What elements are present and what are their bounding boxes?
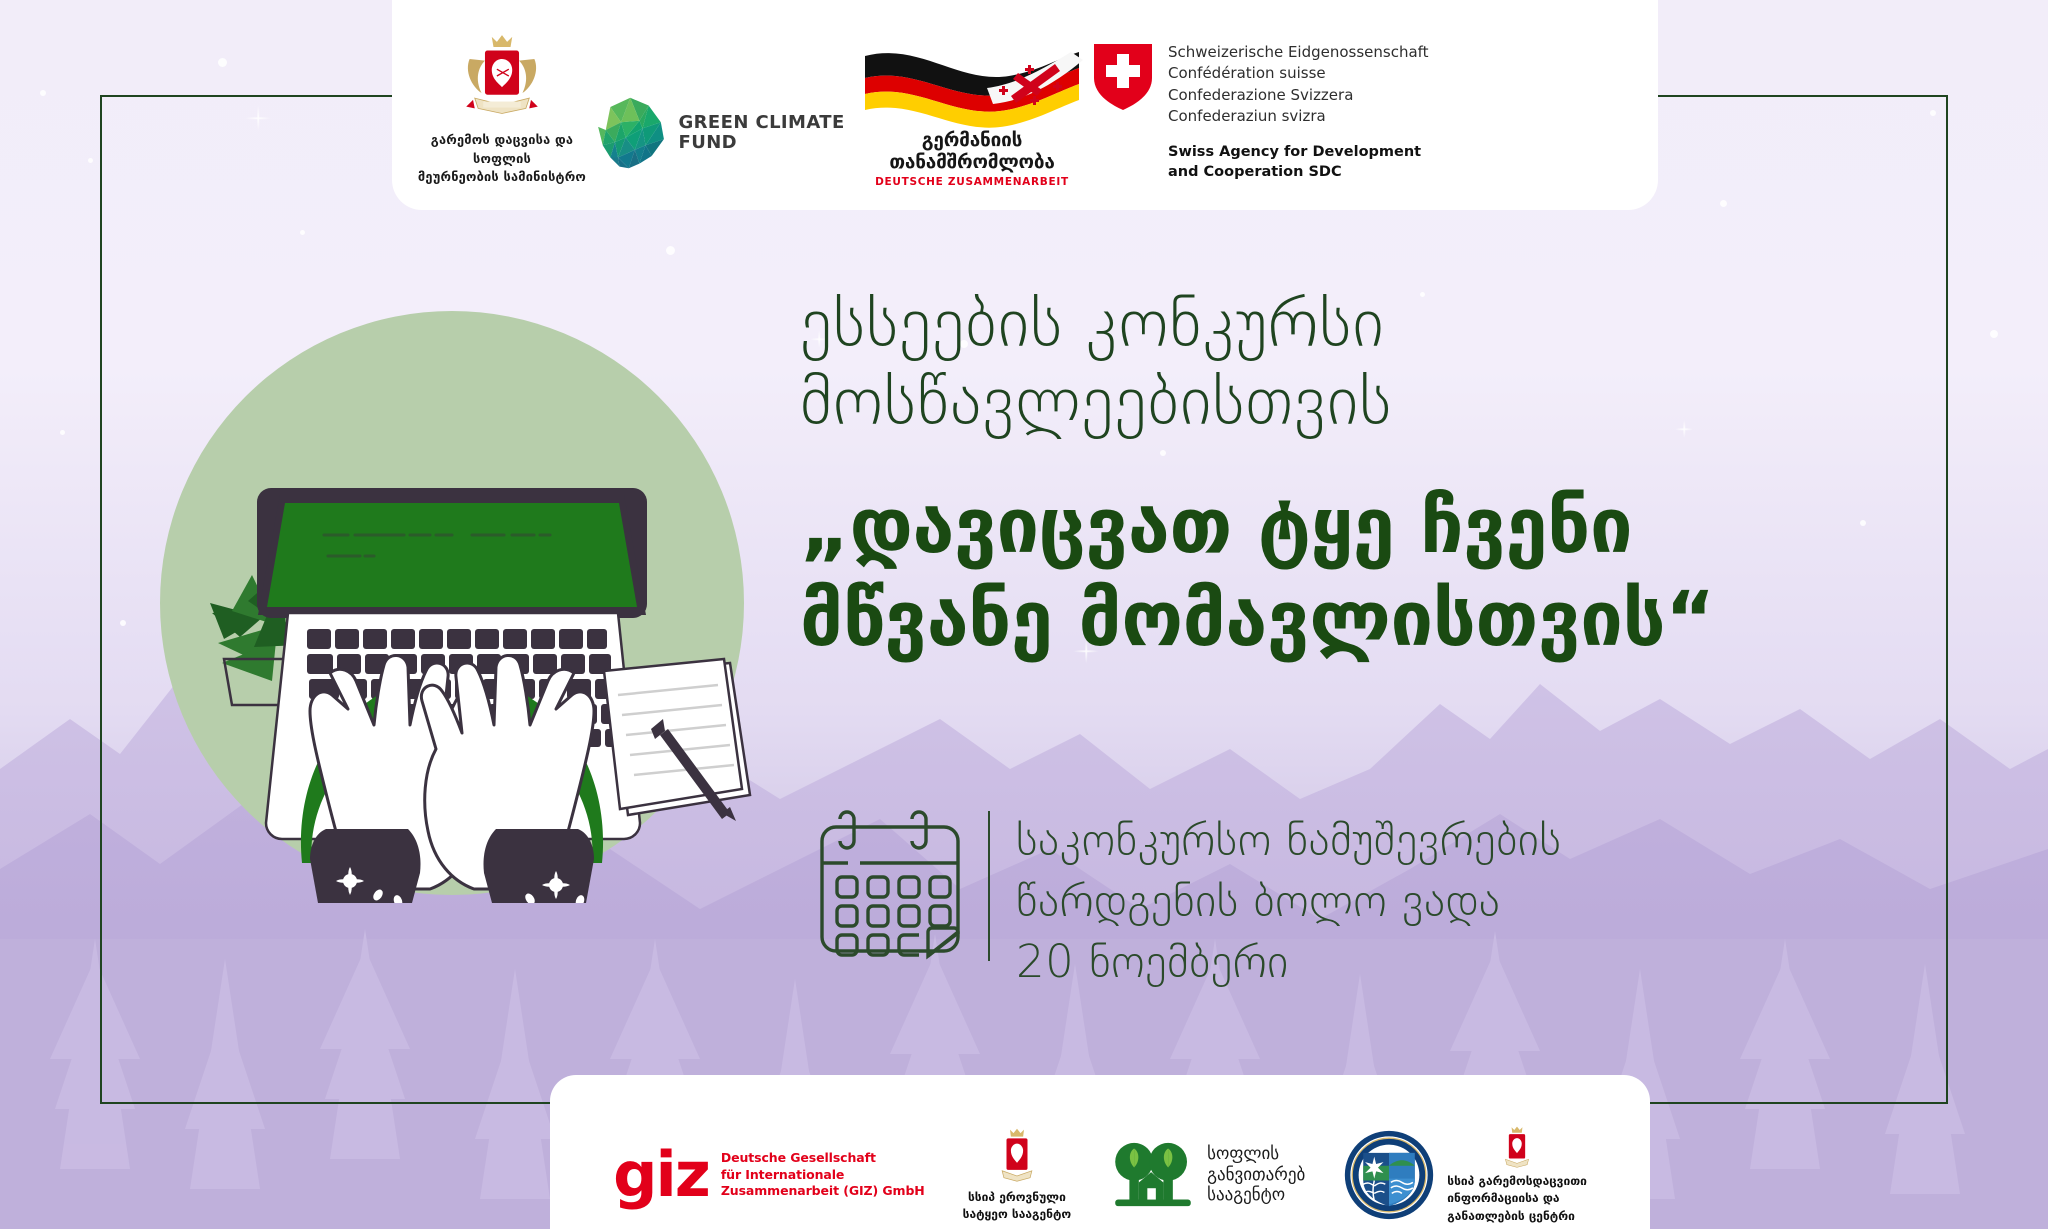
notepad-and-pencil-icon (604, 659, 750, 821)
giz-subtitle: Deutsche Gesellschaft für Internationale… (721, 1150, 925, 1200)
logo-giz: giz Deutsche Gesellschaft für Internatio… (613, 1150, 925, 1201)
green-climate-fund-globe-icon (592, 82, 669, 184)
main-content-block: ესსეების კონკურსი მოსწავლეებისთვის „დავი… (800, 285, 1980, 666)
top-partner-logos-card: გარემოს დაცვისა და სოფლის მეურნეობის სამ… (392, 0, 1658, 210)
georgia-coat-of-arms-small-icon (995, 1127, 1039, 1183)
headline-text: „დავიცვათ ტყე ჩვენი მწვანე მომავლისთვის“ (800, 480, 1980, 665)
eiec-label: სსიპ გარემოსდაცვითი ინფორმაციისა და განა… (1447, 1173, 1587, 1224)
calendar-icon (810, 805, 970, 970)
logo-rural-development-agency: სოფლის განვითარებ სააგენტო (1109, 1141, 1305, 1209)
trees-house-icon (1109, 1141, 1197, 1209)
rural-development-agency-label: სოფლის განვითარებ სააგენტო (1207, 1144, 1305, 1206)
kicker-text: ესსეების კონკურსი მოსწავლეებისთვის (800, 285, 1980, 440)
bottom-partner-logos-card: giz Deutsche Gesellschaft für Internatio… (550, 1075, 1650, 1229)
georgia-coat-of-arms-tiny-icon (1500, 1125, 1534, 1169)
logo-german-cooperation: გერმანიის თანამშრომლობა DEUTSCHE ZUSAMME… (852, 38, 1092, 188)
german-cooperation-de-label: DEUTSCHE ZUSAMMENARBEIT (875, 176, 1069, 188)
logo-swiss-confederation-sdc: Schweizerische Eidgenossenschaft Confédé… (1092, 42, 1522, 188)
logo-ministry-of-environment: გარემოს დაცვისა და სოფლის მეურნეობის სამ… (392, 30, 592, 188)
logo-national-forestry-agency: სსიპ ეროვნული სატყეო სააგენტო (963, 1127, 1071, 1223)
german-georgian-flag-ribbon-icon (859, 38, 1085, 130)
vertical-divider (988, 811, 990, 961)
ministry-name-text: გარემოს დაცვისა და სოფლის მეურნეობის სამ… (412, 132, 592, 188)
national-forestry-agency-label: სსიპ ეროვნული სატყეო სააგენტო (963, 1189, 1071, 1223)
swiss-agency-label: Swiss Agency for Development and Coopera… (1168, 143, 1429, 182)
deadline-block: საკონკურსო ნამუშევრების წარდგენის ბოლო ვ… (810, 805, 1561, 993)
georgia-coat-of-arms-icon (459, 30, 545, 122)
deadline-text: საკონკურსო ნამუშევრების წარდგენის ბოლო ვ… (1016, 805, 1561, 993)
giz-wordmark: giz (613, 1150, 709, 1201)
eiec-seal-icon (1343, 1129, 1435, 1221)
german-cooperation-ka-label: გერმანიის თანამშრომლობა (889, 130, 1054, 173)
green-climate-fund-label: GREEN CLIMATE FUND (679, 113, 853, 153)
swiss-confederation-languages: Schweizerische Eidgenossenschaft Confédé… (1168, 42, 1429, 127)
swiss-shield-icon (1092, 42, 1154, 112)
logo-green-climate-fund: GREEN CLIMATE FUND (592, 82, 852, 188)
person-typing-on-laptop-illustration (152, 303, 752, 903)
logo-environmental-information-education-centre: სსიპ გარემოსდაცვითი ინფორმაციისა და განა… (1343, 1125, 1587, 1224)
